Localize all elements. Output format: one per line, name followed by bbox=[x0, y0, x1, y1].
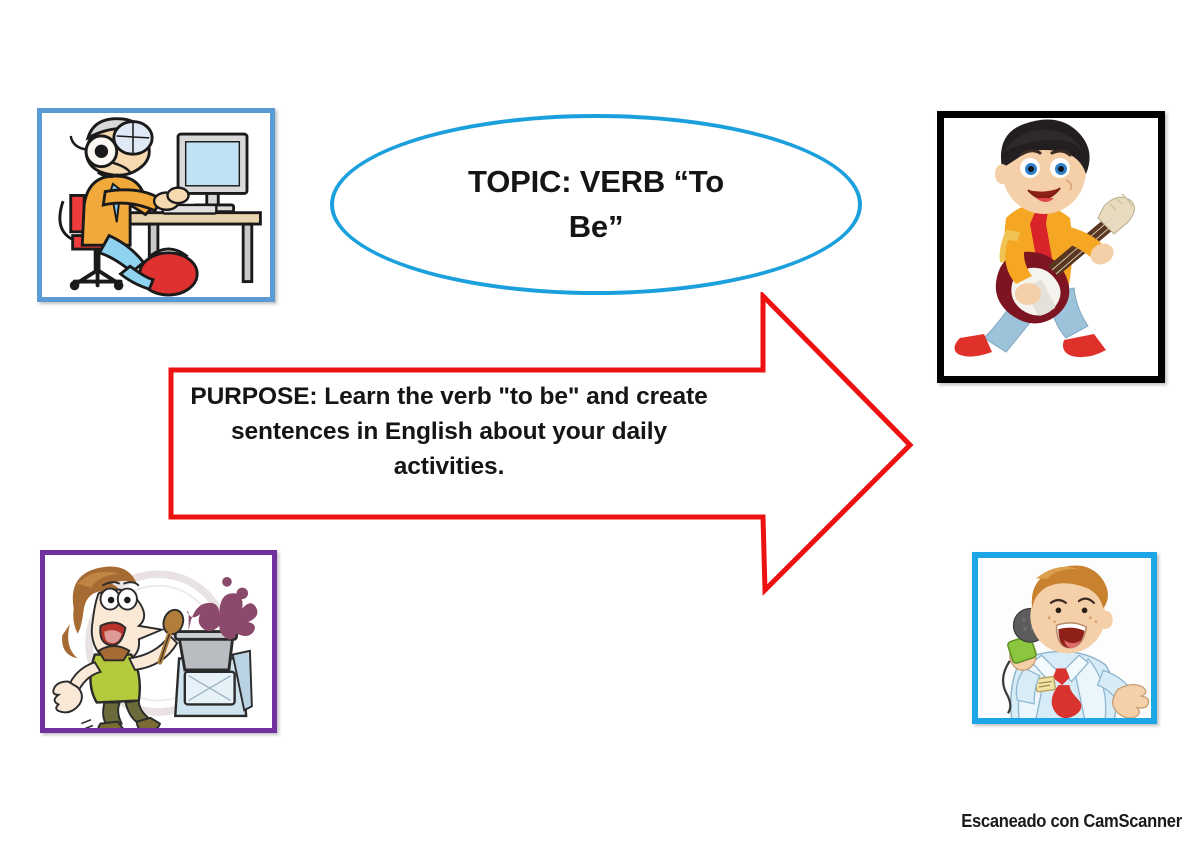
boy-reporter-illustration bbox=[978, 558, 1151, 719]
purpose-text-block: PURPOSE: Learn the verb "to be" and crea… bbox=[183, 380, 715, 484]
topic-line-1: TOPIC: VERB “To bbox=[468, 164, 724, 199]
man-at-computer-illustration bbox=[42, 113, 270, 299]
image-man-at-computer bbox=[37, 108, 275, 302]
purpose-line-2: sentences in English about your daily bbox=[231, 418, 667, 445]
topic-line-2: Be” bbox=[569, 209, 624, 244]
camscanner-watermark: Escaneado con CamScanner bbox=[961, 811, 1182, 832]
topic-ellipse: TOPIC: VERB “To Be” bbox=[330, 114, 862, 295]
slide-canvas: TOPIC: VERB “To Be” PURPOSE: Learn the v… bbox=[0, 0, 1200, 848]
topic-text-block: TOPIC: VERB “To Be” bbox=[431, 160, 761, 250]
purpose-line-3: activities. bbox=[394, 453, 505, 480]
purpose-line-1: PURPOSE: Learn the verb "to be" and crea… bbox=[190, 383, 707, 410]
image-boy-reporter bbox=[972, 552, 1157, 724]
boy-with-guitar-illustration bbox=[944, 118, 1158, 376]
image-boy-with-guitar bbox=[937, 111, 1165, 383]
